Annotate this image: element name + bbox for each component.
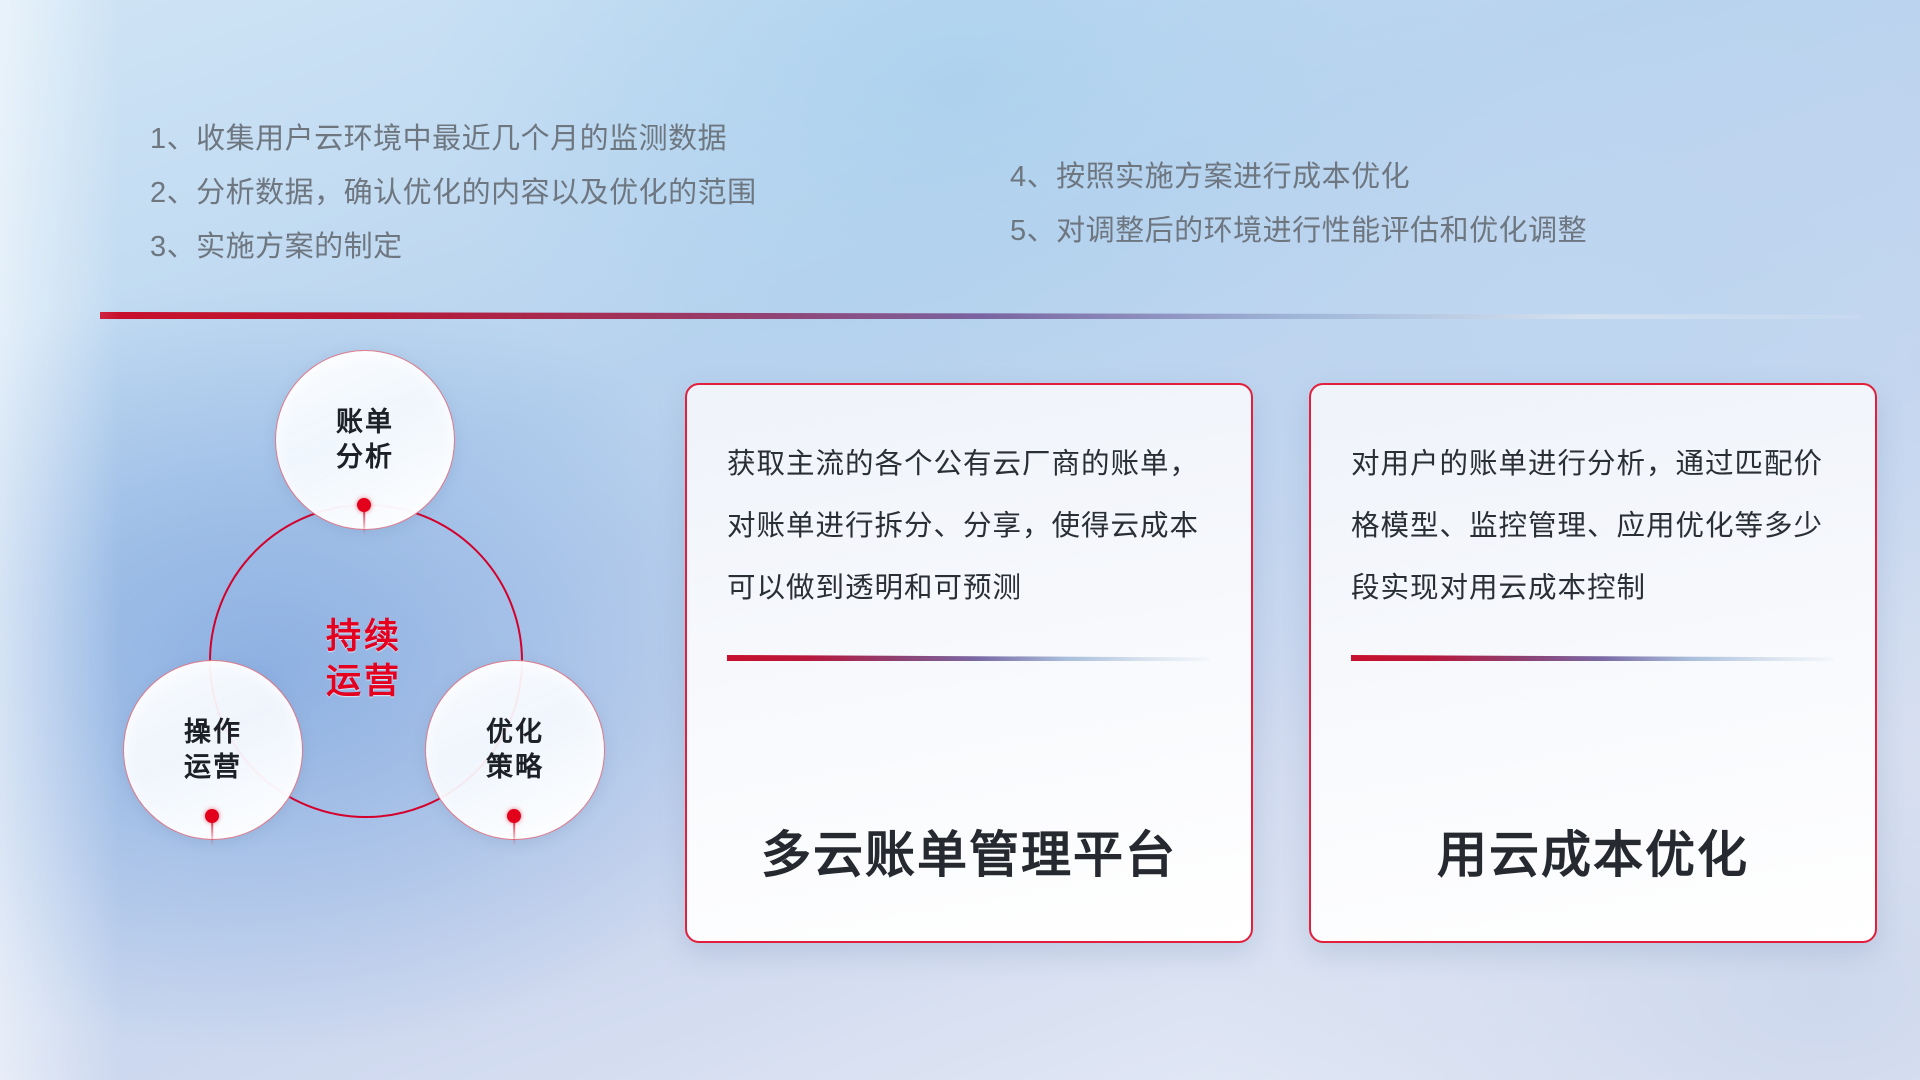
card-title: 用云成本优化 xyxy=(1351,815,1835,913)
step-item-4: 4、按照实施方案进行成本优化 xyxy=(1010,150,1770,204)
steps-section: 1、收集用户云环境中最近几个月的监测数据 2、分析数据，确认优化的内容以及优化的… xyxy=(150,112,1770,274)
steps-column-left: 1、收集用户云环境中最近几个月的监测数据 2、分析数据，确认优化的内容以及优化的… xyxy=(150,112,1010,274)
card-cloud-cost-optimization[interactable]: 对用户的账单进行分析，通过匹配价格模型、监控管理、应用优化等多少段实现对用云成本… xyxy=(1309,383,1877,943)
card-divider-rule xyxy=(1351,655,1835,661)
center-ring-label: 持续 运营 xyxy=(209,504,519,814)
card-title: 多云账单管理平台 xyxy=(727,815,1211,913)
card-multi-cloud-billing-platform[interactable]: 获取主流的各个公有云厂商的账单，对账单进行拆分、分享，使得云成本可以做到透明和可… xyxy=(685,383,1253,943)
node-dot-top-icon xyxy=(357,498,371,512)
card-divider-rule xyxy=(727,655,1211,661)
bubble-bill-analysis-line1: 账单 xyxy=(336,405,394,440)
continuous-operation-diagram: 持续 运营 账单 分析 操作 运营 优化 策略 xyxy=(95,350,655,950)
node-dot-right-icon xyxy=(507,809,521,823)
step-item-5: 5、对调整后的环境进行性能评估和优化调整 xyxy=(1010,204,1770,258)
bubble-bill-analysis-line2: 分析 xyxy=(336,440,394,475)
cards-section: 获取主流的各个公有云厂商的账单，对账单进行拆分、分享，使得云成本可以做到透明和可… xyxy=(685,383,1877,943)
section-divider-rule xyxy=(100,312,1860,319)
step-item-1: 1、收集用户云环境中最近几个月的监测数据 xyxy=(150,112,1010,166)
slide-canvas: 1、收集用户云环境中最近几个月的监测数据 2、分析数据，确认优化的内容以及优化的… xyxy=(0,0,1920,1080)
node-dot-left-icon xyxy=(205,809,219,823)
steps-column-right: 4、按照实施方案进行成本优化 5、对调整后的环境进行性能评估和优化调整 xyxy=(1010,112,1770,274)
center-ring-label-line1: 持续 xyxy=(326,614,402,660)
card-body-text: 对用户的账单进行分析，通过匹配价格模型、监控管理、应用优化等多少段实现对用云成本… xyxy=(1351,433,1835,619)
center-ring-label-line2: 运营 xyxy=(326,659,402,705)
card-body-text: 获取主流的各个公有云厂商的账单，对账单进行拆分、分享，使得云成本可以做到透明和可… xyxy=(727,433,1211,619)
step-item-3: 3、实施方案的制定 xyxy=(150,220,1010,274)
step-item-2: 2、分析数据，确认优化的内容以及优化的范围 xyxy=(150,166,1010,220)
